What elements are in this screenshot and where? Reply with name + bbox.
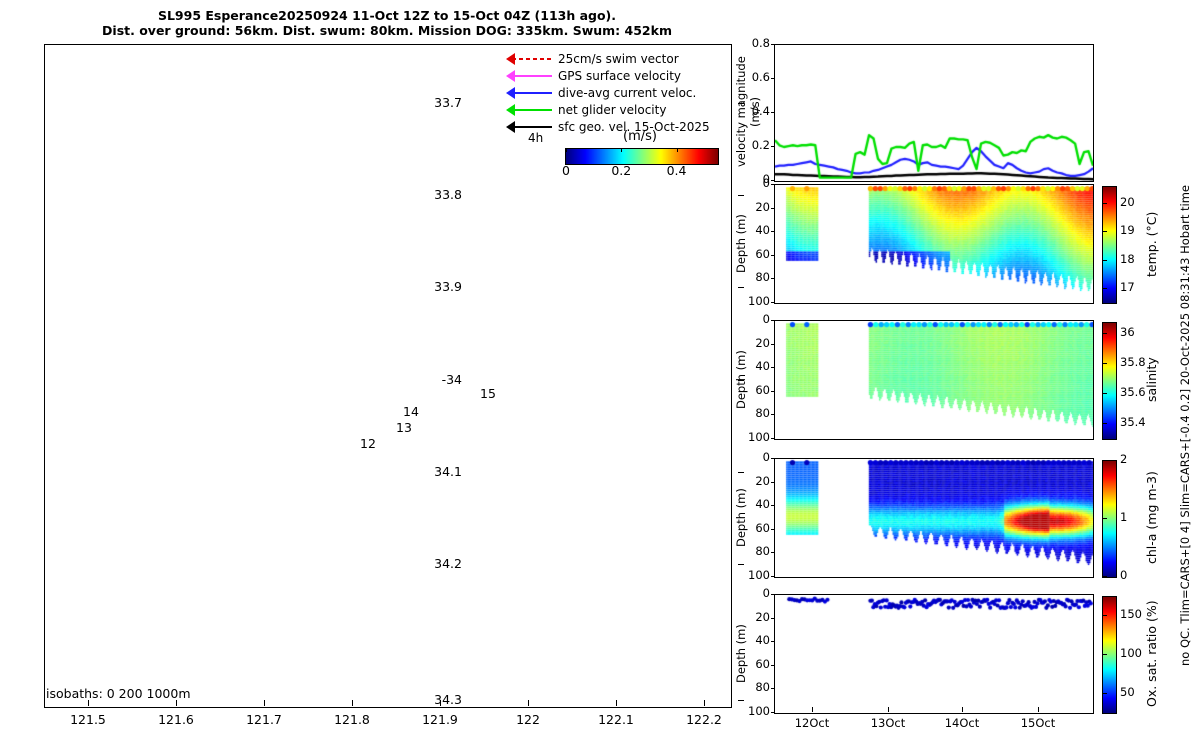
panel-1-ytick-label: 80 (736, 270, 770, 284)
panel-4-tickmark (771, 665, 775, 666)
panel-0-ytick-label: 0.6 (736, 70, 770, 84)
panel-1-ytick-label: 60 (736, 247, 770, 261)
colorbar-tickmark (1103, 288, 1107, 289)
legend-item-label: GPS surface velocity (558, 69, 681, 83)
panel-chlorophyll-a[interactable] (774, 458, 1094, 578)
colorbar-tickmark (1103, 576, 1107, 577)
salinity-colorbar-label: salinity (1144, 322, 1159, 438)
panel-0-tickmark (771, 112, 775, 113)
colorbar-tickmark (1103, 654, 1107, 655)
panel-0-ytick-label: 0.4 (736, 104, 770, 118)
map-legend: 25cm/s swim vectorGPS surface velocitydi… (506, 50, 721, 135)
longitude-tick-label: 121.7 (234, 712, 294, 727)
colorbar-tickmark (1103, 333, 1107, 334)
panel-3-tickmark (771, 482, 775, 483)
colorbar-tickmark (1103, 363, 1107, 364)
panel-3-ytick-label: 0 (736, 450, 770, 464)
salinity-section-plot (775, 321, 1093, 439)
longitude-tick-label: 122.1 (586, 712, 646, 727)
panel-1-tickmark (771, 278, 775, 279)
legend-arrow-icon (506, 53, 552, 65)
legend-item-label: 25cm/s swim vector (558, 52, 679, 66)
colorbar-tick-label: 0 (1120, 568, 1127, 582)
longitude-tickmark (264, 700, 265, 706)
colorbar-tickmark (1103, 260, 1107, 261)
panel-0-ytick-label: 0.8 (736, 36, 770, 50)
legend-arrow-icon (506, 87, 552, 99)
panel-2-ytick-label: 80 (736, 406, 770, 420)
oxygen-saturation-colorbar (1102, 596, 1117, 714)
legend-item-1: GPS surface velocity (506, 67, 721, 84)
colorbar-tickmark (1103, 393, 1107, 394)
title-line-2: Dist. over ground: 56km. Dist. swum: 80k… (44, 23, 730, 38)
longitude-tickmark (704, 700, 705, 706)
panel-4-ytick-label: 100 (736, 704, 770, 718)
chlorophyll-a-colorbar-label: chl-a (mg m-3) (1144, 460, 1159, 576)
colorbar-tickmark (1103, 231, 1107, 232)
time-tick-label: 12Oct (784, 716, 840, 730)
colorbar-tick-label: 18 (1120, 252, 1135, 266)
panel-2-tickmark (771, 367, 775, 368)
panel-0-tickmark (771, 146, 775, 147)
time-tickmark (1038, 707, 1039, 712)
track-day-label-14: 14 (403, 404, 419, 419)
colorbar-tick-label: 20 (1120, 195, 1135, 209)
page-title: SL995 Esperance20250924 11-Oct 12Z to 15… (44, 8, 730, 38)
colorbar-tickmark (1103, 203, 1107, 204)
panel-temperature[interactable] (774, 184, 1094, 304)
longitude-tick-label: 122 (498, 712, 558, 727)
colorbar-tickmark (566, 148, 567, 152)
panel-2-ytick-label: 40 (736, 359, 770, 373)
latitude-tick-label: 33.9 (402, 279, 462, 294)
time-tick-label: 15Oct (1010, 716, 1066, 730)
colorbar-tick-label: 0 (546, 163, 586, 178)
longitude-tickmark (528, 700, 529, 706)
panel-4-tickmark (771, 618, 775, 619)
longitude-tickmark (352, 700, 353, 706)
panel-2-tickmark (771, 320, 775, 321)
latitude-tickmark (738, 195, 744, 196)
track-day-label-12: 12 (360, 436, 376, 451)
colorbar-tick-label: 50 (1120, 685, 1135, 699)
panel-2-tickmark (771, 438, 775, 439)
panel-salinity[interactable] (774, 320, 1094, 440)
panel-1-ytick-label: 0 (736, 176, 770, 190)
longitude-tickmark (440, 700, 441, 706)
colorbar-tick-label: 19 (1120, 223, 1135, 237)
longitude-tick-label: 121.6 (146, 712, 206, 727)
panel-0-tickmark (771, 180, 775, 181)
colorbar-tick-label: 100 (1120, 646, 1142, 660)
temperature-colorbar-label: temp. (°C) (1144, 186, 1159, 302)
time-tick-label: 13Oct (860, 716, 916, 730)
colorbar-tick-label: 35.4 (1120, 415, 1146, 429)
temperature-section-plot (775, 185, 1093, 303)
panel-2-tickmark (771, 391, 775, 392)
panel-3-tickmark (771, 505, 775, 506)
panel-3-ytick-label: 60 (736, 521, 770, 535)
panel-3-ytick-label: 40 (736, 497, 770, 511)
latitude-tick-label: 33.7 (402, 95, 462, 110)
chlorophyll-section-plot (775, 459, 1093, 577)
colorbar-tick-label: 0.2 (601, 163, 641, 178)
panel-4-tickmark (771, 641, 775, 642)
panel-2-tickmark (771, 344, 775, 345)
time-tickmark (888, 707, 889, 712)
legend-units-label: (m/s) (560, 129, 720, 144)
time-tick-label: 14Oct (934, 716, 990, 730)
panel-1-tickmark (771, 302, 775, 303)
panel-0-tickmark (771, 44, 775, 45)
colorbar-tick-label: 1 (1120, 510, 1127, 524)
latitude-tick-label: 34.2 (402, 556, 462, 571)
colorbar-tick-label: 35.8 (1120, 355, 1146, 369)
colorbar-tick-label: 17 (1120, 280, 1135, 294)
track-day-label-13: 13 (396, 420, 412, 435)
title-line-1: SL995 Esperance20250924 11-Oct 12Z to 15… (44, 8, 730, 23)
latitude-tickmark (738, 564, 744, 565)
colorbar-tick-label: 2 (1120, 452, 1127, 466)
colorbar-tickmark (1103, 615, 1107, 616)
panel-4-ytick-label: 40 (736, 633, 770, 647)
sea-background (45, 45, 731, 707)
panel-4-tickmark (771, 594, 775, 595)
panel-1-tickmark (771, 231, 775, 232)
panel-4-ytick-label: 60 (736, 657, 770, 671)
longitude-tick-label: 121.8 (322, 712, 382, 727)
legend-item-2: dive-avg current veloc. (506, 84, 721, 101)
panel-1-tickmark (771, 255, 775, 256)
panel-2-ytick-label: 100 (736, 430, 770, 444)
panel-1-ytick-label: 100 (736, 294, 770, 308)
oxygen-saturation-colorbar-label: Ox. sat. ratio (%) (1144, 596, 1159, 712)
panel-4-ytick-label: 0 (736, 586, 770, 600)
colorbar-tick-label: 150 (1120, 607, 1142, 621)
latitude-tick-label: 33.8 (402, 187, 462, 202)
latitude-tick-label: 34.1 (402, 464, 462, 479)
panel-2-ytick-label: 20 (736, 336, 770, 350)
velocity-magnitude-plot (775, 45, 1093, 181)
panel-3-ytick-label: 20 (736, 474, 770, 488)
colorbar-tick-label: 0.4 (657, 163, 697, 178)
legend-item-3: net glider velocity (506, 101, 721, 118)
colorbar-tick-label: 36 (1120, 325, 1135, 339)
legend-arrow-icon (506, 70, 552, 82)
latitude-tickmark (738, 700, 744, 701)
panel-3-tickmark (771, 458, 775, 459)
isobaths-label: isobaths: 0 200 1000m (46, 686, 191, 701)
panel-0-ytick-label: 0.2 (736, 138, 770, 152)
footnote-text: no QC. Tlim=CARS+[0 4] Slim=CARS+[-0.4 0… (1178, 185, 1192, 666)
colorbar-tickmark (1103, 423, 1107, 424)
panel-1-ytick-label: 20 (736, 200, 770, 214)
panel-3-tickmark (771, 552, 775, 553)
panel-1-tickmark (771, 208, 775, 209)
oxygen-section-plot (775, 595, 1093, 713)
panel-0-tickmark (771, 78, 775, 79)
panel-4-ytick-label: 80 (736, 680, 770, 694)
colorbar-tickmark (1103, 693, 1107, 694)
panel-3-ytick-label: 80 (736, 544, 770, 558)
colorbar-tickmark (677, 148, 678, 152)
legend-item-0: 25cm/s swim vector (506, 50, 721, 67)
legend-arrow-icon (506, 104, 552, 116)
panel-2-ytick-label: 60 (736, 383, 770, 397)
longitude-tickmark (616, 700, 617, 706)
track-day-label-15: 15 (480, 386, 496, 401)
colorbar-tickmark (621, 148, 622, 152)
panel-3-ytick-label: 100 (736, 568, 770, 582)
longitude-tick-label: 121.5 (58, 712, 118, 727)
legend-scale-label: 4h (528, 131, 543, 145)
time-tickmark (962, 707, 963, 712)
panel-velocity-magnitude[interactable] (774, 44, 1094, 182)
longitude-tick-label: 121.9 (410, 712, 470, 727)
colorbar-tick-label: 35.6 (1120, 385, 1146, 399)
panel-3-tickmark (771, 529, 775, 530)
panel-2-tickmark (771, 414, 775, 415)
panel-oxygen-saturation[interactable] (774, 594, 1094, 714)
panel-4-tickmark (771, 712, 775, 713)
colorbar-tickmark (1103, 460, 1107, 461)
latitude-tick-label: -34 (402, 372, 462, 387)
longitude-tick-label: 122.2 (674, 712, 734, 727)
time-tickmark (812, 707, 813, 712)
colorbar-tickmark (1103, 518, 1107, 519)
panel-3-tickmark (771, 576, 775, 577)
panel-1-ytick-label: 40 (736, 223, 770, 237)
panel-4-tickmark (771, 688, 775, 689)
latitude-tick-label: 34.3 (402, 692, 462, 707)
legend-item-label: dive-avg current veloc. (558, 86, 696, 100)
chlorophyll-a-colorbar (1102, 460, 1117, 578)
legend-item-label: net glider velocity (558, 103, 666, 117)
panel-4-ytick-label: 20 (736, 610, 770, 624)
panel-1-tickmark (771, 184, 775, 185)
panel-2-ytick-label: 0 (736, 312, 770, 326)
